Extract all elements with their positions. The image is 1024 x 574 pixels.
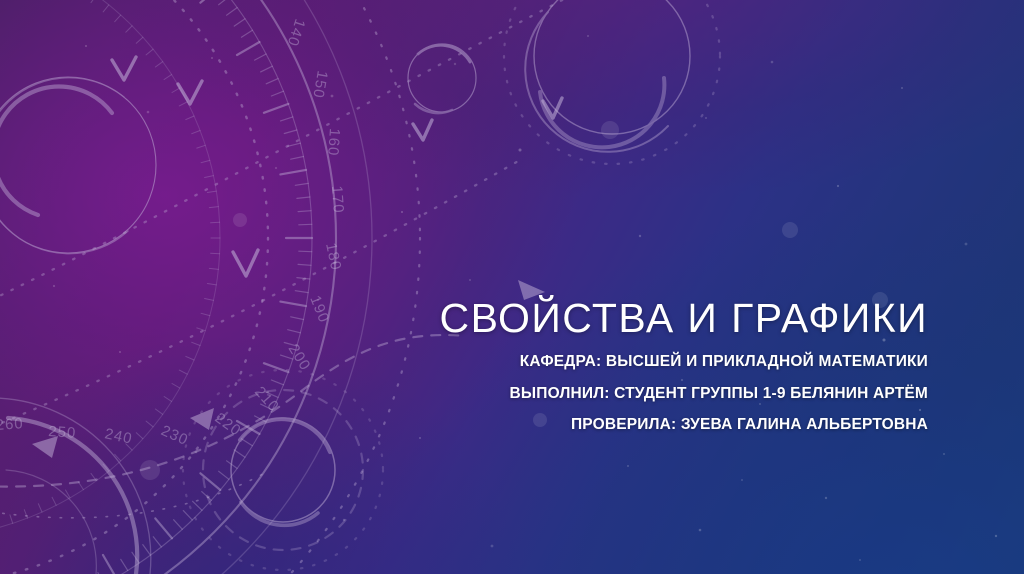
svg-text:250: 250 — [48, 423, 77, 442]
chevron-markers — [112, 57, 562, 276]
background-base-gradient — [0, 0, 1024, 574]
circle-motif-upper-left — [0, 77, 156, 254]
dial-tick-marks — [0, 0, 312, 574]
arc-motif-lower-left — [0, 398, 151, 574]
subtitle-reviewer: Проверила: Зуева Галина Альбертовна — [228, 417, 928, 433]
svg-text:170: 170 — [328, 185, 347, 214]
svg-text:260: 260 — [0, 415, 24, 434]
svg-text:160: 160 — [324, 128, 343, 157]
background-purple-glow — [0, 0, 1024, 574]
title-slide: 140 150 160 170 180 190 200 210 220 230 … — [0, 0, 1024, 574]
subtitle-list: Кафедра: высшей и прикладной математики … — [228, 354, 928, 433]
dial-rings — [0, 0, 372, 574]
page-title: Свойства и графики — [228, 296, 928, 340]
title-text-block: Свойства и графики Кафедра: высшей и при… — [228, 296, 928, 433]
svg-text:150: 150 — [309, 69, 331, 100]
star-speckles — [0, 0, 1024, 574]
compass-dial-decoration: 140 150 160 170 180 190 200 210 220 230 … — [0, 0, 1024, 574]
subtitle-author: Выполнил: студент группы 1-9 Белянин Арт… — [228, 386, 928, 402]
background-blue-glow — [0, 0, 1024, 574]
svg-text:240: 240 — [103, 425, 134, 447]
circle-motif-upper-right — [504, 0, 720, 164]
circle-motif-upper-mid — [408, 44, 476, 113]
svg-text:140: 140 — [284, 17, 309, 49]
background-top-glow — [0, 0, 1024, 574]
dotted-rings — [0, 0, 420, 574]
svg-text:230: 230 — [158, 422, 191, 449]
svg-text:180: 180 — [322, 241, 344, 272]
subtitle-department: Кафедра: высшей и прикладной математики — [228, 354, 928, 370]
